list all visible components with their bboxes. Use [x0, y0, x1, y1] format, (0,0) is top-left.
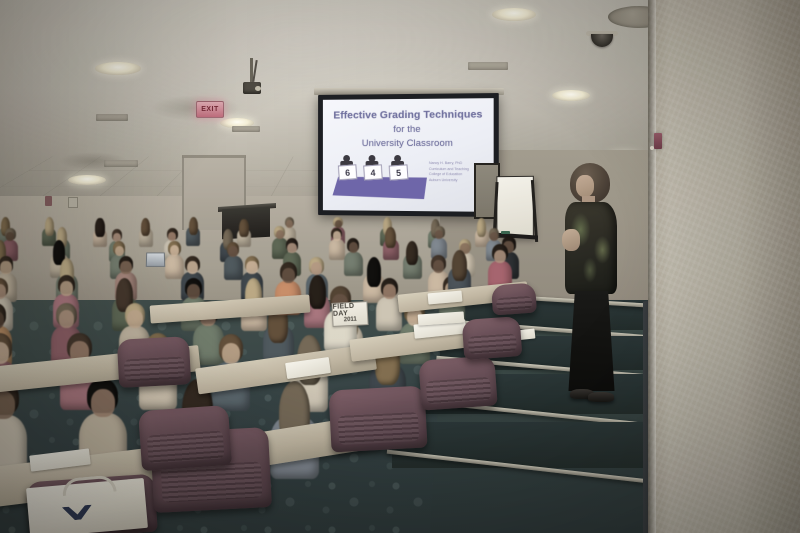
- audience-head: [222, 343, 241, 365]
- audience-hair: [239, 219, 248, 237]
- audience-member: [329, 228, 345, 260]
- exit-sign: EXIT: [196, 101, 224, 118]
- audience-head: [287, 243, 296, 254]
- audience-head: [282, 268, 295, 283]
- audience-head: [383, 284, 396, 299]
- lecture-hall-photo: EXIT Effective Grading Techniques for th…: [0, 0, 800, 533]
- audience-member: [0, 380, 27, 476]
- ceiling-downlight: [492, 8, 536, 21]
- audience-head: [60, 281, 73, 296]
- audience-head: [127, 310, 143, 328]
- slide-title-line2: for the: [323, 123, 494, 138]
- audience-torso: [224, 256, 243, 280]
- ceiling-vent: [468, 62, 508, 70]
- ceiling-vent: [96, 114, 128, 121]
- audience-head: [349, 242, 358, 253]
- audience-member: [139, 218, 153, 246]
- audience-head: [490, 232, 498, 241]
- audience-member: [344, 238, 363, 275]
- audience-head: [246, 261, 257, 274]
- audience-head: [170, 245, 179, 256]
- projector-lens: [255, 86, 261, 91]
- scorecard: 4: [363, 164, 383, 180]
- judge-figure: 4: [362, 155, 384, 181]
- slide-title-line3: University Classroom: [323, 137, 494, 151]
- audience-head: [187, 284, 200, 299]
- slide-clipart-judges: 6 4 5: [331, 155, 431, 201]
- audience-head: [228, 246, 237, 257]
- audience-head: [333, 231, 341, 240]
- column-edge: [648, 0, 656, 533]
- chair-back: [117, 336, 191, 388]
- right-column: [648, 0, 800, 533]
- slide-title-line1: Effective Grading Techniques: [323, 107, 494, 123]
- step-riser: [392, 422, 674, 468]
- wall-plate: [68, 197, 78, 208]
- tshirt-text-line1: FIELD DAY: [332, 303, 367, 319]
- audience-member: [403, 241, 422, 278]
- audience-hair: [95, 218, 104, 236]
- ceiling-projector: [243, 58, 261, 100]
- audience-head: [91, 389, 115, 417]
- ceiling-downlight: [68, 175, 106, 185]
- presenter-face: [576, 175, 594, 197]
- slide-title: Effective Grading Techniques for the Uni…: [323, 98, 494, 151]
- marker-pen: [501, 231, 510, 234]
- chair-back: [138, 405, 232, 471]
- audience-hair: [452, 250, 467, 281]
- tote-bag: [26, 478, 148, 533]
- audience-member: [93, 218, 107, 246]
- chair-back: [491, 283, 537, 316]
- audience-head: [168, 232, 176, 241]
- projection-screen: Effective Grading Techniques for the Uni…: [318, 93, 499, 217]
- audience-member: [186, 217, 200, 245]
- chair-back: [418, 355, 497, 410]
- audience-hair: [385, 227, 396, 248]
- scorecard: 5: [389, 164, 409, 180]
- tshirt-text-line2: 2011: [344, 317, 357, 325]
- audience-torso: [329, 239, 345, 260]
- audience-hair: [309, 275, 326, 309]
- chevron-logo-icon: [62, 505, 93, 522]
- field-day-tshirt-graphic: FIELD DAY2011: [331, 301, 368, 327]
- audience-head: [120, 261, 131, 274]
- audience-head: [0, 261, 11, 274]
- laptop-screen: [146, 252, 166, 266]
- ceiling-vent: [104, 160, 138, 167]
- audience-hair: [141, 218, 150, 236]
- slide-content: Effective Grading Techniques for the Uni…: [323, 98, 494, 212]
- audience-head: [59, 310, 75, 328]
- scorecard: 6: [338, 164, 357, 180]
- fire-alarm-pull-icon: [654, 133, 662, 149]
- audience-hair: [477, 218, 486, 236]
- ceiling-vent: [232, 126, 260, 132]
- audience-head: [433, 260, 444, 273]
- presenter-figure: [556, 163, 628, 413]
- chair-back: [462, 316, 523, 360]
- audience-hair: [406, 241, 418, 265]
- ceiling-downlight: [95, 62, 141, 75]
- presenter-shoe: [588, 392, 614, 402]
- audience-head: [187, 261, 198, 274]
- audience-member: [224, 242, 243, 279]
- ceiling-downlight: [552, 90, 590, 101]
- projector-cable: [252, 60, 257, 82]
- audience-member: [383, 227, 399, 259]
- audience-hair: [45, 217, 54, 235]
- audience-hair: [189, 217, 198, 235]
- chair-back: [328, 386, 427, 453]
- fire-alarm-indicator: [650, 146, 654, 150]
- alarm-strobe-icon: [45, 196, 52, 206]
- judge-figure: 5: [387, 155, 409, 181]
- judge-figure: 6: [336, 155, 357, 181]
- audience-torso: [344, 252, 363, 276]
- presenter-skirt: [567, 291, 616, 391]
- audience-head: [494, 250, 506, 264]
- presenter-hands: [562, 229, 580, 251]
